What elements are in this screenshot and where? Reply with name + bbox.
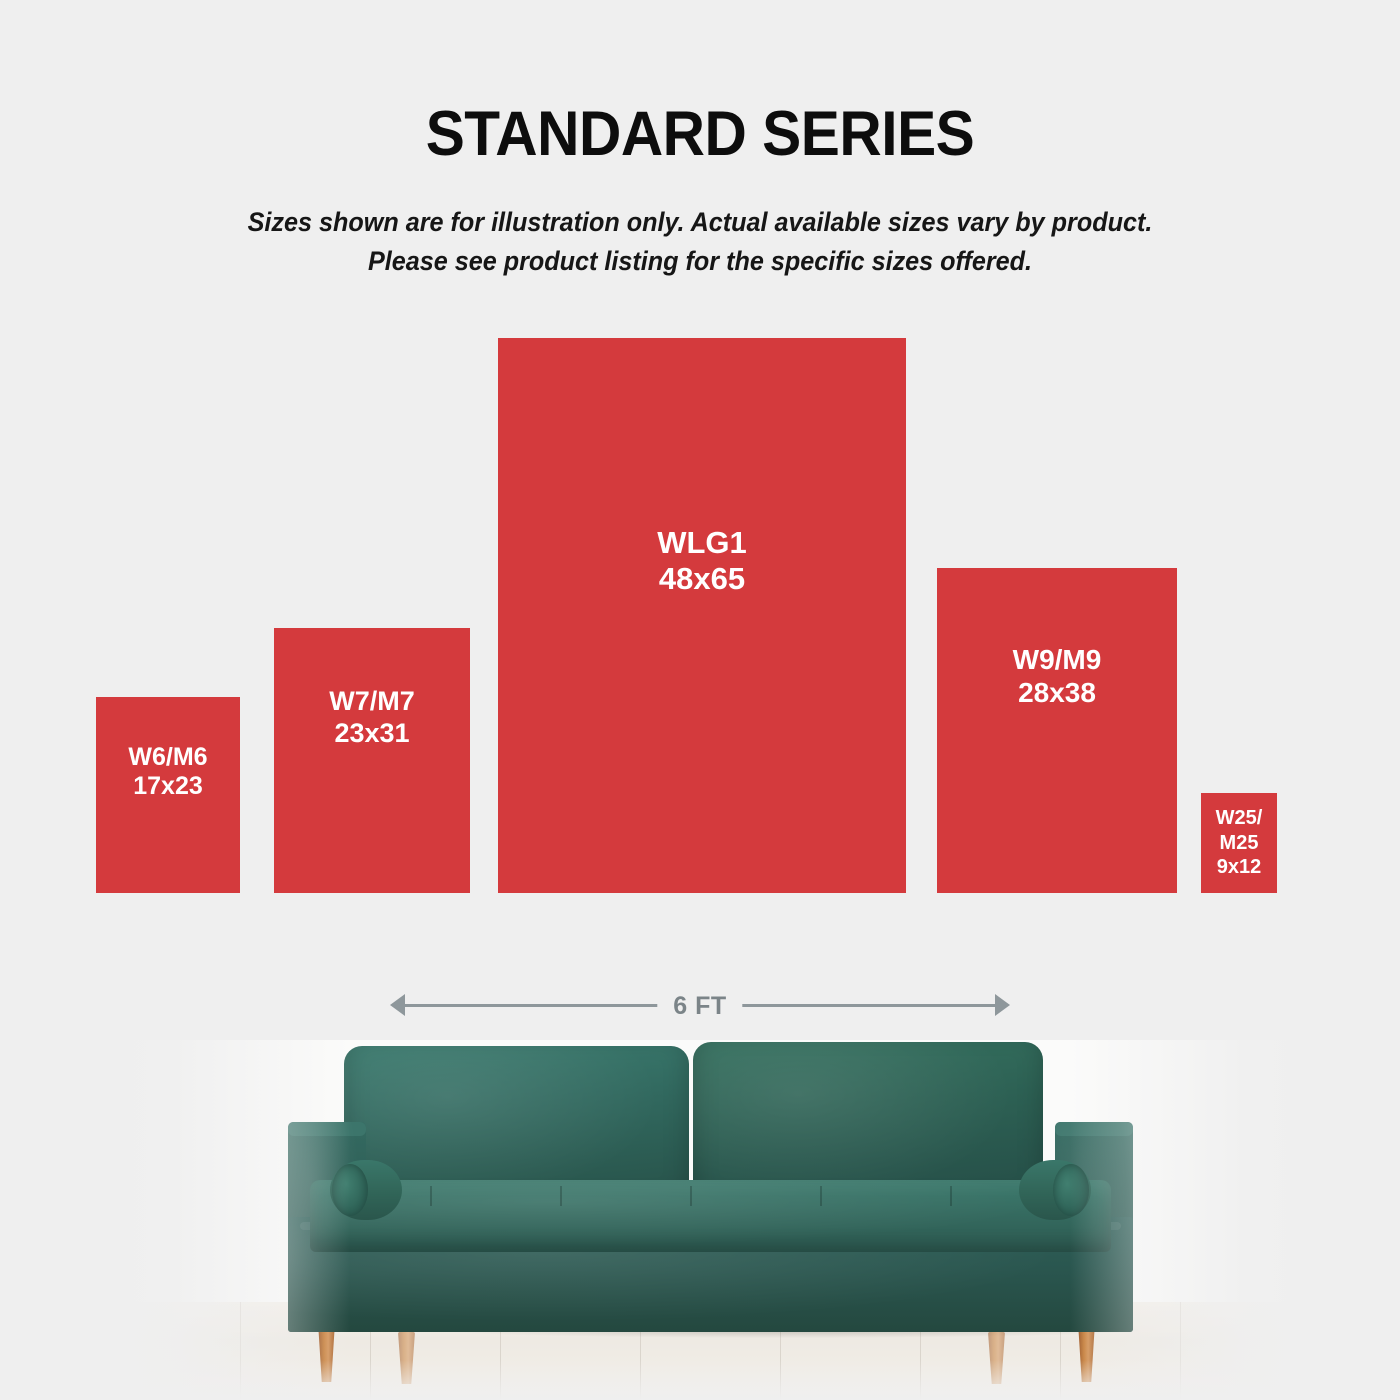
size-name: W6/M6	[128, 743, 207, 772]
size-name: WLG1	[657, 525, 747, 561]
page-subtitle: Sizes shown are for illustration only. A…	[35, 203, 1365, 281]
size-chart-infographic: STANDARD SERIES Sizes shown are for illu…	[0, 0, 1400, 1400]
photo-fade-right	[1070, 1040, 1300, 1400]
photo-fade-bottom	[120, 1360, 1300, 1400]
size-dimensions: 48x65	[659, 561, 745, 597]
sofa-reference-photo	[120, 1040, 1300, 1400]
subtitle-line-2: Please see product listing for the speci…	[368, 246, 1032, 276]
arrow-right-icon	[995, 994, 1010, 1016]
size-name: W25/ M25	[1216, 806, 1263, 855]
sofa-illustration	[288, 1040, 1133, 1380]
size-name: W7/M7	[329, 686, 415, 717]
measurement-label: 6 FT	[657, 985, 742, 1027]
sofa-seat-cushion	[310, 1180, 1111, 1252]
size-swatch-wlg1[interactable]: WLG1 48x65	[498, 338, 906, 893]
size-dimensions: 17x23	[133, 772, 203, 801]
size-dimensions: 28x38	[1018, 677, 1096, 709]
subtitle-line-1: Sizes shown are for illustration only. A…	[248, 207, 1153, 237]
measurement-scale: 6 FT	[390, 985, 1010, 1027]
size-swatch-w25-m25[interactable]: W25/ M25 9x12	[1201, 793, 1277, 893]
photo-fade-left	[120, 1040, 350, 1400]
size-swatch-w7-m7[interactable]: W7/M7 23x31	[274, 628, 470, 893]
size-name: W9/M9	[1013, 644, 1102, 676]
page-title: STANDARD SERIES	[49, 98, 1351, 170]
size-swatch-w6-m6[interactable]: W6/M6 17x23	[96, 697, 240, 893]
size-dimensions: 23x31	[334, 718, 409, 749]
size-dimensions: 9x12	[1217, 855, 1262, 879]
size-swatch-w9-m9[interactable]: W9/M9 28x38	[937, 568, 1177, 893]
